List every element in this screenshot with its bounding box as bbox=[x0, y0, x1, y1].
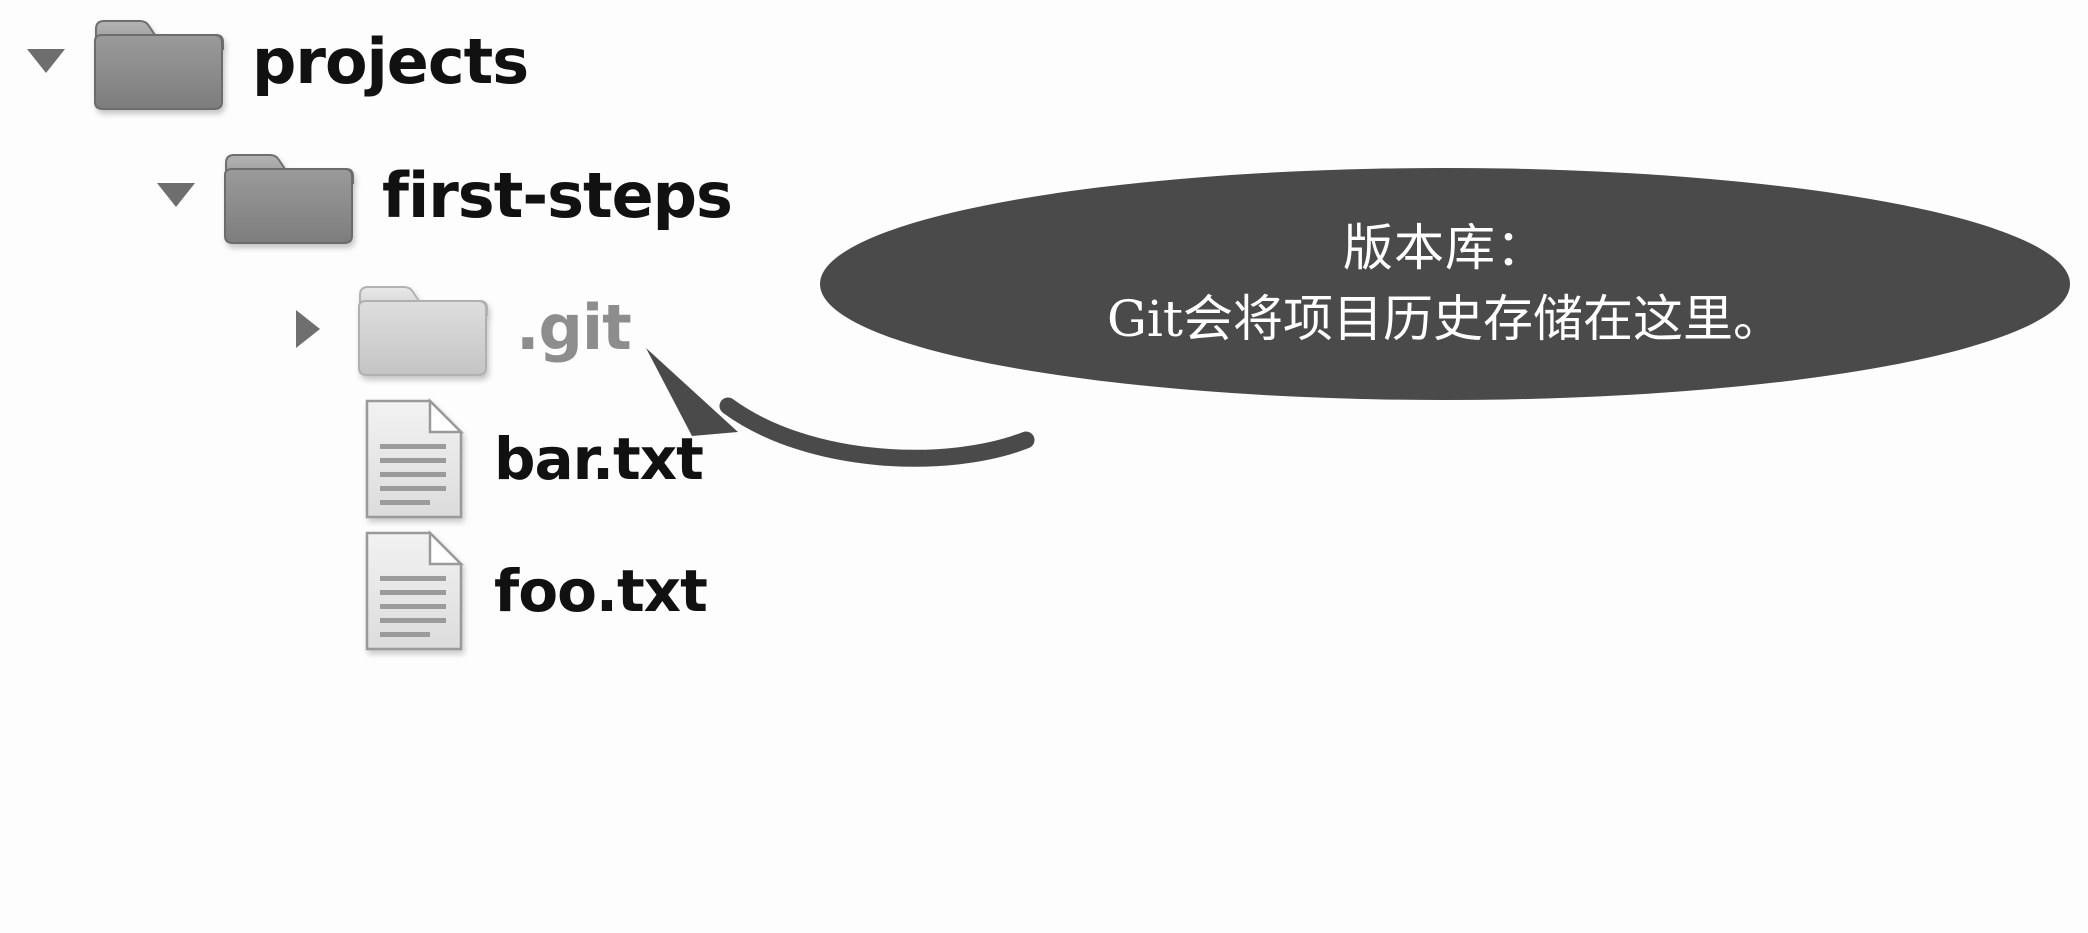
tree-label-projects: projects bbox=[252, 25, 528, 98]
text-document-icon bbox=[362, 528, 466, 654]
file-tree: projects first-steps bbox=[0, 0, 1000, 933]
callout-bubble: 版本库： Git会将项目历史存储在这里。 bbox=[820, 168, 2070, 400]
folder-icon bbox=[222, 143, 354, 247]
tree-label-bar-txt: bar.txt bbox=[494, 425, 703, 493]
callout-line-1: 版本库： bbox=[1343, 213, 1547, 284]
disclosure-triangle-right-icon[interactable] bbox=[282, 299, 338, 355]
tree-row-bar-txt[interactable]: bar.txt bbox=[282, 404, 703, 514]
disclosure-triangle-down-icon[interactable] bbox=[18, 33, 74, 89]
diagram-canvas: projects first-steps bbox=[0, 0, 2088, 933]
tree-label-first-steps: first-steps bbox=[382, 159, 732, 232]
tree-row-foo-txt[interactable]: foo.txt bbox=[282, 536, 707, 646]
folder-icon bbox=[356, 275, 488, 379]
callout-line-2: Git会将项目历史存储在这里。 bbox=[1107, 284, 1783, 355]
tree-label-foo-txt: foo.txt bbox=[494, 557, 707, 625]
text-document-icon bbox=[362, 396, 466, 522]
folder-icon bbox=[92, 9, 224, 113]
disclosure-triangle-down-icon[interactable] bbox=[148, 167, 204, 223]
tree-row-git[interactable]: .git bbox=[282, 272, 631, 382]
tree-row-projects[interactable]: projects bbox=[18, 6, 528, 116]
tree-row-first-steps[interactable]: first-steps bbox=[148, 140, 732, 250]
tree-label-git: .git bbox=[516, 291, 631, 364]
